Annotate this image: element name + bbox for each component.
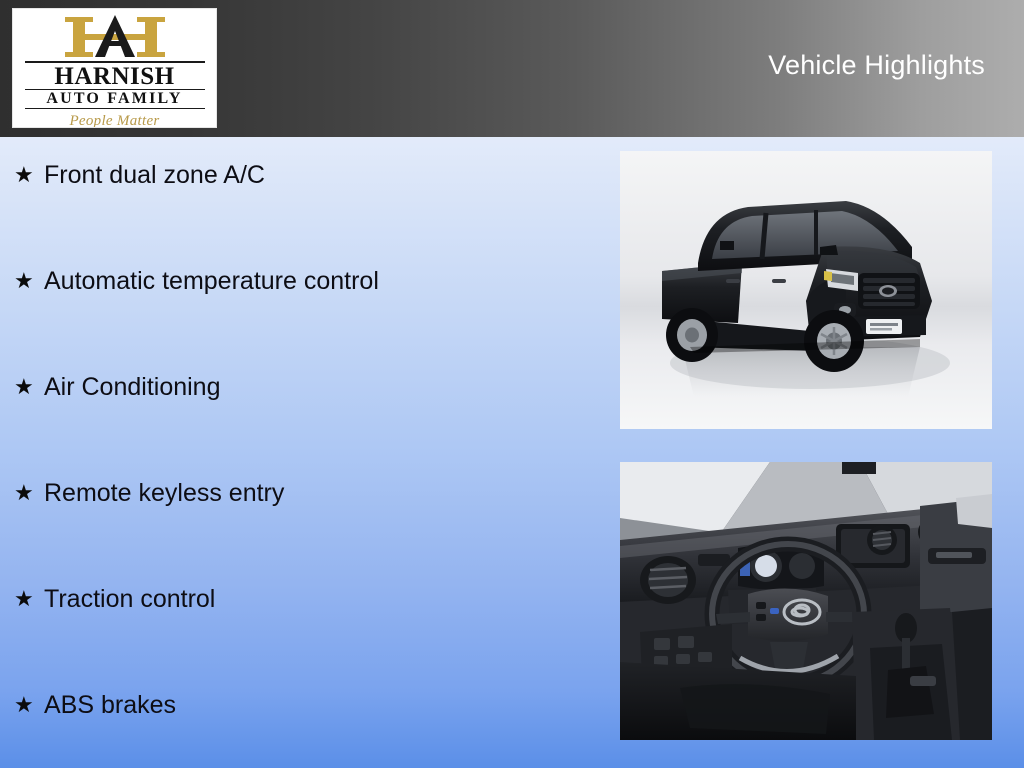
logo-wordmark: HARNISH AUTO FAMILY People Matter bbox=[25, 61, 205, 128]
logo-name-line2: AUTO FAMILY bbox=[25, 90, 205, 108]
feature-label: Air Conditioning bbox=[44, 372, 221, 403]
star-bullet-icon: ★ bbox=[14, 690, 44, 720]
feature-label: Traction control bbox=[44, 584, 215, 615]
logo-tagline: People Matter bbox=[25, 109, 205, 128]
logo-name-line1: HARNISH bbox=[25, 63, 205, 89]
star-bullet-icon: ★ bbox=[14, 266, 44, 296]
star-bullet-icon: ★ bbox=[14, 160, 44, 190]
page-title: Vehicle Highlights bbox=[768, 50, 985, 81]
list-item: ★ Remote keyless entry bbox=[14, 478, 594, 584]
list-item: ★ Automatic temperature control bbox=[14, 266, 594, 372]
vehicle-exterior-photo bbox=[620, 151, 992, 429]
slide-canvas: Vehicle Highlights bbox=[0, 0, 1024, 768]
list-item: ★ Traction control bbox=[14, 584, 594, 690]
list-item: ★ Air Conditioning bbox=[14, 372, 594, 478]
star-bullet-icon: ★ bbox=[14, 372, 44, 402]
feature-label: Automatic temperature control bbox=[44, 266, 379, 297]
star-bullet-icon: ★ bbox=[14, 478, 44, 508]
list-item: ★ Front dual zone A/C bbox=[14, 160, 594, 266]
star-bullet-icon: ★ bbox=[14, 584, 44, 614]
dealer-logo: HARNISH AUTO FAMILY People Matter bbox=[12, 8, 217, 128]
list-item: ★ ABS brakes bbox=[14, 690, 594, 768]
feature-label: Front dual zone A/C bbox=[44, 160, 265, 191]
vehicle-interior-photo bbox=[620, 462, 992, 740]
feature-label: ABS brakes bbox=[44, 690, 176, 721]
harnish-monogram-icon bbox=[63, 13, 167, 63]
vehicle-features-list: ★ Front dual zone A/C ★ Automatic temper… bbox=[14, 160, 594, 768]
feature-label: Remote keyless entry bbox=[44, 478, 284, 509]
